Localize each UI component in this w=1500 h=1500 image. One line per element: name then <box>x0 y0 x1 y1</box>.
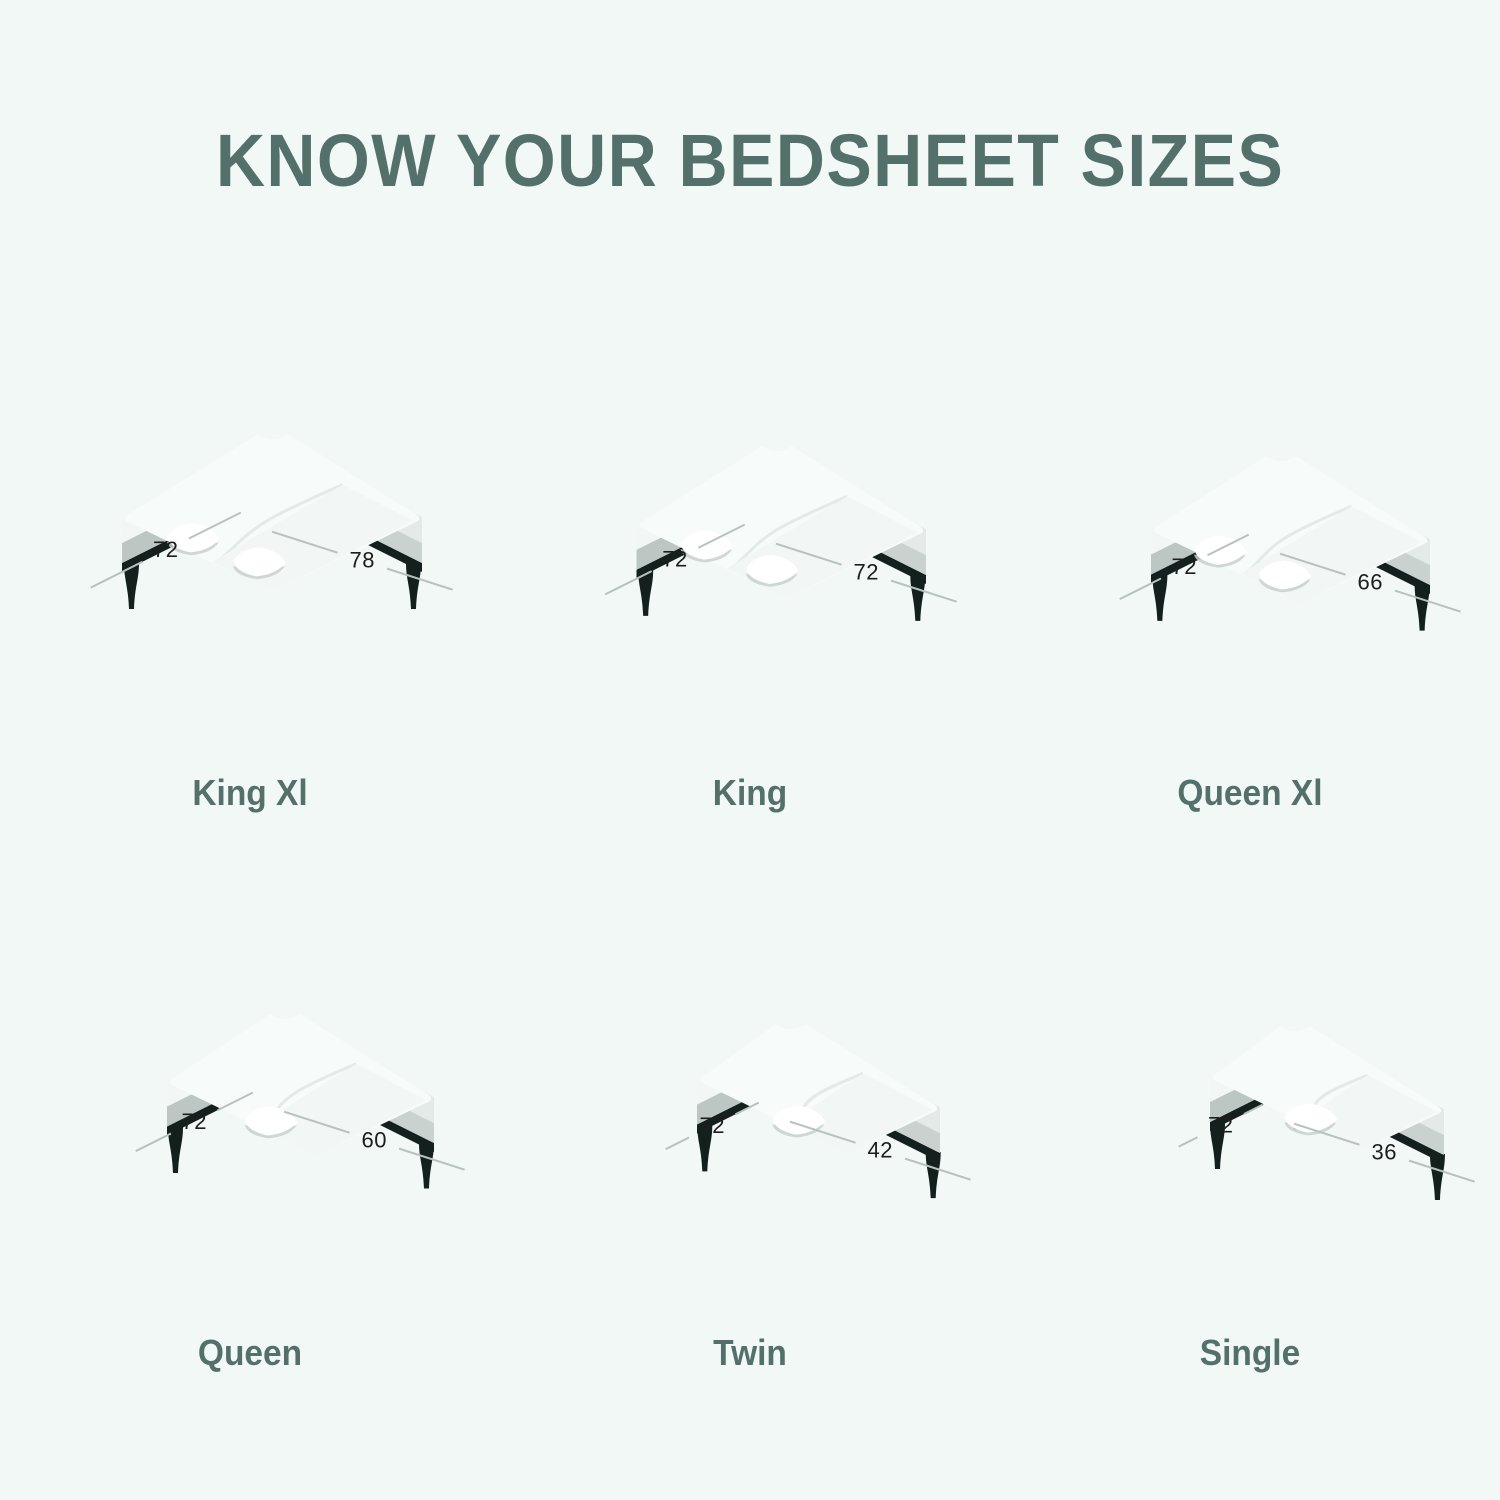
bed-illustration: 7236 <box>1000 860 1500 1300</box>
dimension-length-label: 60 <box>362 1128 387 1153</box>
bed-card: 7260Queen <box>0 860 500 1420</box>
page-title: KNOW YOUR BEDSHEET SIZES <box>60 118 1440 203</box>
bed-card: 7236Single <box>1000 860 1500 1420</box>
dimension-width-label: 72 <box>699 1113 724 1138</box>
bed-card: 7278King Xl <box>0 300 500 860</box>
bed-illustration: 7266 <box>1000 300 1500 740</box>
dimension-length-label: 66 <box>1358 570 1383 595</box>
dimension-width-label: 72 <box>153 537 178 562</box>
dimension-width-label: 72 <box>1208 1113 1233 1138</box>
dimension-width-label: 72 <box>1171 554 1196 579</box>
bed-size-label: King <box>518 772 983 814</box>
dimension-width-label: 72 <box>181 1109 206 1134</box>
bed-size-label: Single <box>1018 1332 1483 1374</box>
bed-size-grid: 7278King Xl7272King7266Queen Xl7260Queen… <box>0 300 1500 1420</box>
bed-size-label: King Xl <box>18 772 483 814</box>
bed-card: 7242Twin <box>500 860 1000 1420</box>
dimension-line <box>1179 1137 1198 1146</box>
dimension-length-label: 36 <box>1372 1140 1397 1165</box>
bed-card: 7272King <box>500 300 1000 860</box>
bedsheet-size-infographic: KNOW YOUR BEDSHEET SIZES 7278King Xl7272… <box>0 0 1500 1500</box>
bed-illustration: 7242 <box>500 860 1000 1300</box>
dimension-length-label: 42 <box>868 1138 893 1163</box>
bed-illustration: 7278 <box>0 300 500 740</box>
bed-card: 7266Queen Xl <box>1000 300 1500 860</box>
bed-size-label: Queen <box>18 1332 483 1374</box>
bed-size-label: Twin <box>518 1332 983 1374</box>
dimension-line <box>666 1138 689 1150</box>
bed-illustration: 7272 <box>500 300 1000 740</box>
dimension-line <box>136 1134 171 1152</box>
bed-size-label: Queen Xl <box>1018 772 1483 814</box>
dimension-length-label: 72 <box>854 560 879 585</box>
dimension-width-label: 72 <box>662 547 687 572</box>
bed-illustration: 7260 <box>0 860 500 1300</box>
dimension-length-label: 78 <box>350 548 375 573</box>
